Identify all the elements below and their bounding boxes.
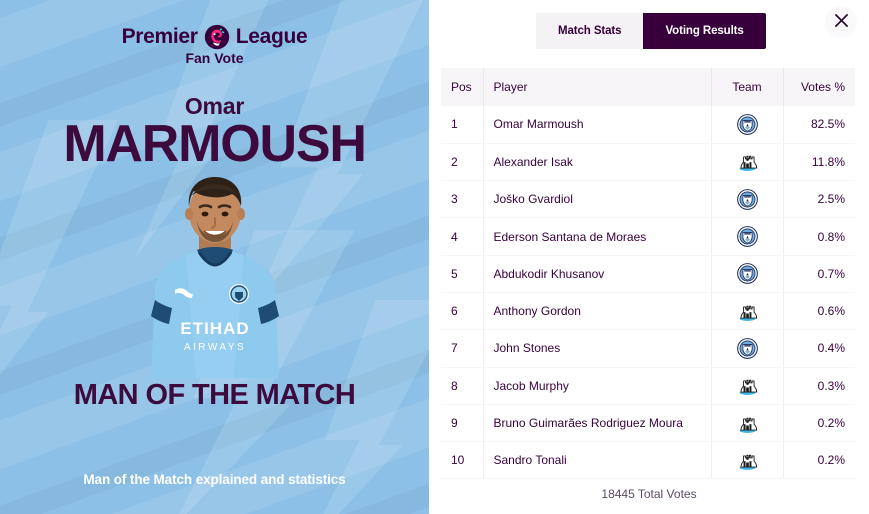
- column-header-pos: Pos: [441, 68, 483, 106]
- table-row[interactable]: 1Omar Marmoush82.5%: [441, 106, 855, 143]
- cell-team: [711, 367, 783, 404]
- svg-text:ETIHAD: ETIHAD: [180, 319, 249, 338]
- total-votes-label: 18445 Total Votes: [429, 487, 869, 501]
- cell-votes-percent: 0.7%: [783, 255, 855, 292]
- cell-player-name: John Stones: [483, 330, 711, 367]
- table-row[interactable]: 2Alexander Isak11.8%: [441, 143, 855, 180]
- premier-league-lion-icon: [204, 24, 230, 50]
- column-header-team: Team: [711, 68, 783, 106]
- cell-player-name: Omar Marmoush: [483, 106, 711, 143]
- player-portrait: ETIHAD AIRWAYS: [127, 166, 303, 378]
- column-header-player: Player: [483, 68, 711, 106]
- cell-player-name: Joško Gvardiol: [483, 181, 711, 218]
- table-body: 1Omar Marmoush82.5%2Alexander Isak11.8%3…: [441, 106, 855, 479]
- panel-tabs: Match Stats Voting Results: [536, 13, 766, 49]
- table-row[interactable]: 6Anthony Gordon0.6%: [441, 292, 855, 329]
- man-city-badge-icon: [737, 229, 758, 243]
- cell-votes-percent: 2.5%: [783, 181, 855, 218]
- cell-position: 9: [441, 404, 483, 441]
- table-row[interactable]: 9Bruno Guimarães Rodriguez Moura0.2%: [441, 404, 855, 441]
- brand-word-league: League: [236, 25, 308, 49]
- cell-position: 4: [441, 218, 483, 255]
- cell-votes-percent: 0.8%: [783, 218, 855, 255]
- cell-position: 10: [441, 442, 483, 479]
- cell-player-name: Jacob Murphy: [483, 367, 711, 404]
- player-last-name: MARMOUSH: [0, 116, 429, 172]
- fan-vote-subtitle: Fan Vote: [0, 50, 429, 66]
- cell-player-name: Ederson Santana de Moraes: [483, 218, 711, 255]
- newcastle-badge-icon: [737, 415, 758, 429]
- cell-player-name: Sandro Tonali: [483, 442, 711, 479]
- cell-votes-percent: 0.4%: [783, 330, 855, 367]
- cell-votes-percent: 0.2%: [783, 404, 855, 441]
- cell-team: [711, 292, 783, 329]
- newcastle-badge-icon: [737, 154, 758, 168]
- brand-word-premier: Premier: [122, 25, 198, 49]
- cell-position: 1: [441, 106, 483, 143]
- motm-explainer-link[interactable]: Man of the Match explained and statistic…: [0, 472, 429, 487]
- cell-position: 5: [441, 255, 483, 292]
- cell-team: [711, 442, 783, 479]
- table-row[interactable]: 5Abdukodir Khusanov0.7%: [441, 255, 855, 292]
- cell-votes-percent: 0.2%: [783, 442, 855, 479]
- man-city-badge-icon: [737, 341, 758, 355]
- cell-team: [711, 106, 783, 143]
- man-city-badge-icon: [737, 266, 758, 280]
- cell-position: 6: [441, 292, 483, 329]
- table-row[interactable]: 3Joško Gvardiol2.5%: [441, 181, 855, 218]
- award-title: MAN OF THE MATCH: [0, 379, 429, 412]
- table-row[interactable]: 4Ederson Santana de Moraes0.8%: [441, 218, 855, 255]
- cell-team: [711, 255, 783, 292]
- voting-results-panel: Match Stats Voting Results Pos Player Te…: [429, 0, 869, 514]
- cell-team: [711, 181, 783, 218]
- cell-votes-percent: 82.5%: [783, 106, 855, 143]
- table-row[interactable]: 10Sandro Tonali0.2%: [441, 442, 855, 479]
- cell-player-name: Anthony Gordon: [483, 292, 711, 329]
- cell-player-name: Bruno Guimarães Rodriguez Moura: [483, 404, 711, 441]
- man-of-the-match-promo-panel: Premier League Fan Vote Omar MARMOUSH: [0, 0, 429, 514]
- cell-position: 3: [441, 181, 483, 218]
- table-row[interactable]: 7John Stones0.4%: [441, 330, 855, 367]
- tab-voting-results[interactable]: Voting Results: [643, 13, 765, 49]
- cell-votes-percent: 11.8%: [783, 143, 855, 180]
- cell-player-name: Alexander Isak: [483, 143, 711, 180]
- cell-player-name: Abdukodir Khusanov: [483, 255, 711, 292]
- cell-votes-percent: 0.6%: [783, 292, 855, 329]
- newcastle-badge-icon: [737, 452, 758, 466]
- cell-position: 7: [441, 330, 483, 367]
- close-button[interactable]: [825, 6, 857, 38]
- cell-team: [711, 330, 783, 367]
- svg-text:AIRWAYS: AIRWAYS: [183, 342, 245, 353]
- table-header-row: Pos Player Team Votes %: [441, 68, 855, 106]
- man-city-badge-icon: [737, 191, 758, 205]
- fan-vote-overlay: Premier League Fan Vote Omar MARMOUSH: [0, 0, 869, 514]
- newcastle-badge-icon: [737, 303, 758, 317]
- newcastle-badge-icon: [737, 378, 758, 392]
- cell-team: [711, 218, 783, 255]
- cell-team: [711, 404, 783, 441]
- table-row[interactable]: 8Jacob Murphy0.3%: [441, 367, 855, 404]
- voting-results-table: Pos Player Team Votes % 1Omar Marmoush82…: [441, 68, 855, 479]
- close-icon: [834, 13, 849, 31]
- cell-team: [711, 143, 783, 180]
- tab-match-stats[interactable]: Match Stats: [536, 13, 643, 49]
- man-city-badge-icon: [737, 117, 758, 131]
- cell-position: 2: [441, 143, 483, 180]
- premier-league-logo: Premier League: [0, 24, 429, 50]
- column-header-votes: Votes %: [783, 68, 855, 106]
- cell-votes-percent: 0.3%: [783, 367, 855, 404]
- cell-position: 8: [441, 367, 483, 404]
